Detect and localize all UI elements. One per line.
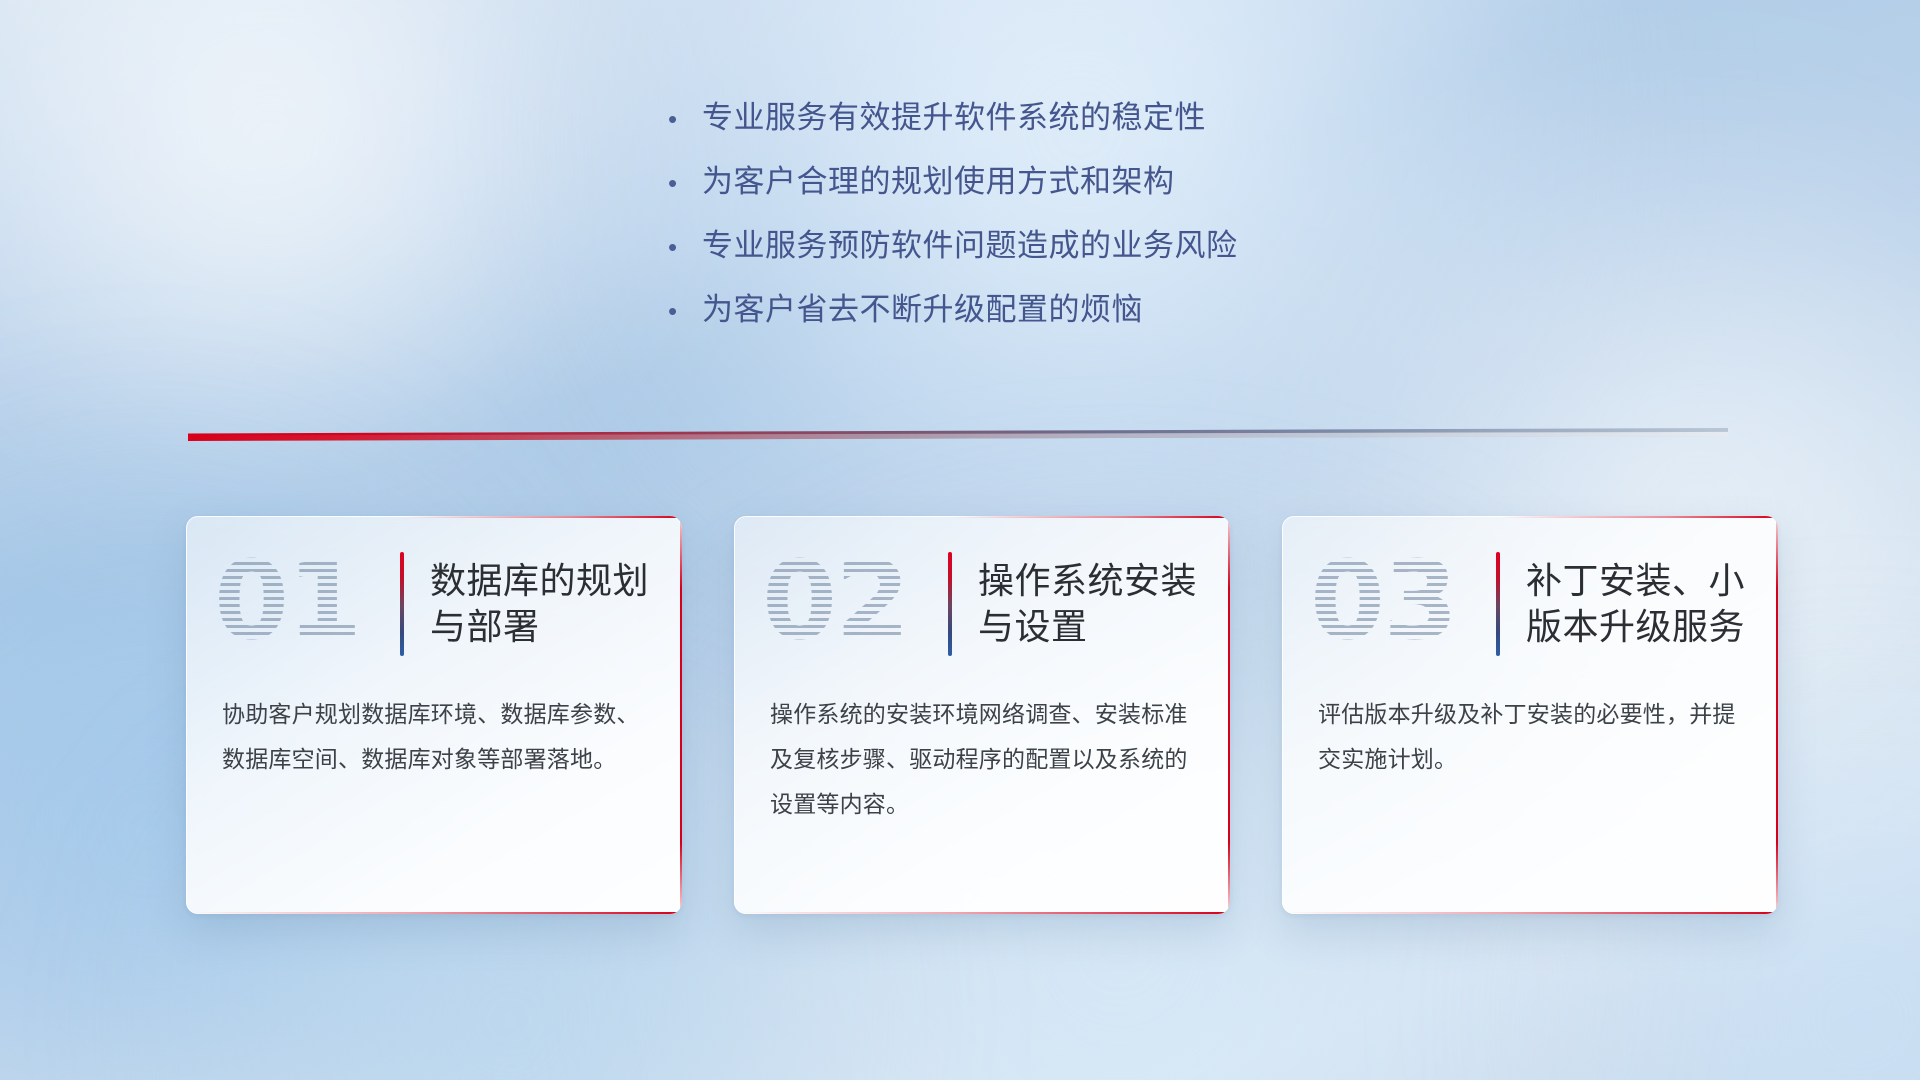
highlight-text: 专业服务有效提升软件系统的稳定性 — [702, 92, 1206, 137]
card-accent-bottom — [734, 912, 1230, 914]
list-item: • 专业服务有效提升软件系统的稳定性 — [668, 92, 1206, 156]
service-card[interactable]: 01 数据库的规划与部署 协助客户规划数据库环境、数据库参数、数据库空间、数据库… — [186, 516, 682, 914]
bullet-dot-icon: • — [668, 234, 702, 260]
card-number: 02 — [762, 548, 944, 656]
section-divider — [188, 428, 1728, 441]
highlights-list: • 专业服务有效提升软件系统的稳定性 • 为客户合理的规划使用方式和架构 • 专… — [0, 92, 1920, 348]
bullet-dot-icon: • — [668, 106, 702, 132]
card-title: 补丁安装、小版本升级服务 — [1526, 558, 1750, 650]
card-title-bar — [948, 552, 952, 656]
card-title-bar — [1496, 552, 1500, 656]
service-card[interactable]: 03 补丁安装、小版本升级服务 评估版本升级及补丁安装的必要性，并提交实施计划。 — [1282, 516, 1778, 914]
bullet-dot-icon: • — [668, 298, 702, 324]
highlight-text: 为客户省去不断升级配置的烦恼 — [702, 284, 1143, 329]
card-body: 评估版本升级及补丁安装的必要性，并提交实施计划。 — [1282, 692, 1778, 782]
card-accent-bottom — [186, 912, 682, 914]
card-title: 操作系统安装与设置 — [978, 558, 1202, 650]
list-item: • 为客户合理的规划使用方式和架构 — [668, 156, 1175, 220]
highlight-text: 为客户合理的规划使用方式和架构 — [702, 156, 1175, 201]
service-card[interactable]: 02 操作系统安装与设置 操作系统的安装环境网络调查、安装标准及复核步骤、驱动程… — [734, 516, 1230, 914]
card-header: 03 补丁安装、小版本升级服务 — [1282, 516, 1778, 692]
card-body: 协助客户规划数据库环境、数据库参数、数据库空间、数据库对象等部署落地。 — [186, 692, 682, 782]
highlight-text: 专业服务预防软件问题造成的业务风险 — [702, 220, 1238, 265]
card-body: 操作系统的安装环境网络调查、安装标准及复核步骤、驱动程序的配置以及系统的设置等内… — [734, 692, 1230, 827]
card-number: 01 — [214, 548, 396, 656]
card-header: 02 操作系统安装与设置 — [734, 516, 1230, 692]
service-cards: 01 数据库的规划与部署 协助客户规划数据库环境、数据库参数、数据库空间、数据库… — [186, 516, 1780, 914]
list-item: • 专业服务预防软件问题造成的业务风险 — [668, 220, 1238, 284]
card-number: 03 — [1310, 548, 1492, 656]
card-title: 数据库的规划与部署 — [430, 558, 654, 650]
card-accent-bottom — [1282, 912, 1778, 914]
card-header: 01 数据库的规划与部署 — [186, 516, 682, 692]
card-title-bar — [400, 552, 404, 656]
bullet-dot-icon: • — [668, 170, 702, 196]
list-item: • 为客户省去不断升级配置的烦恼 — [668, 284, 1143, 348]
